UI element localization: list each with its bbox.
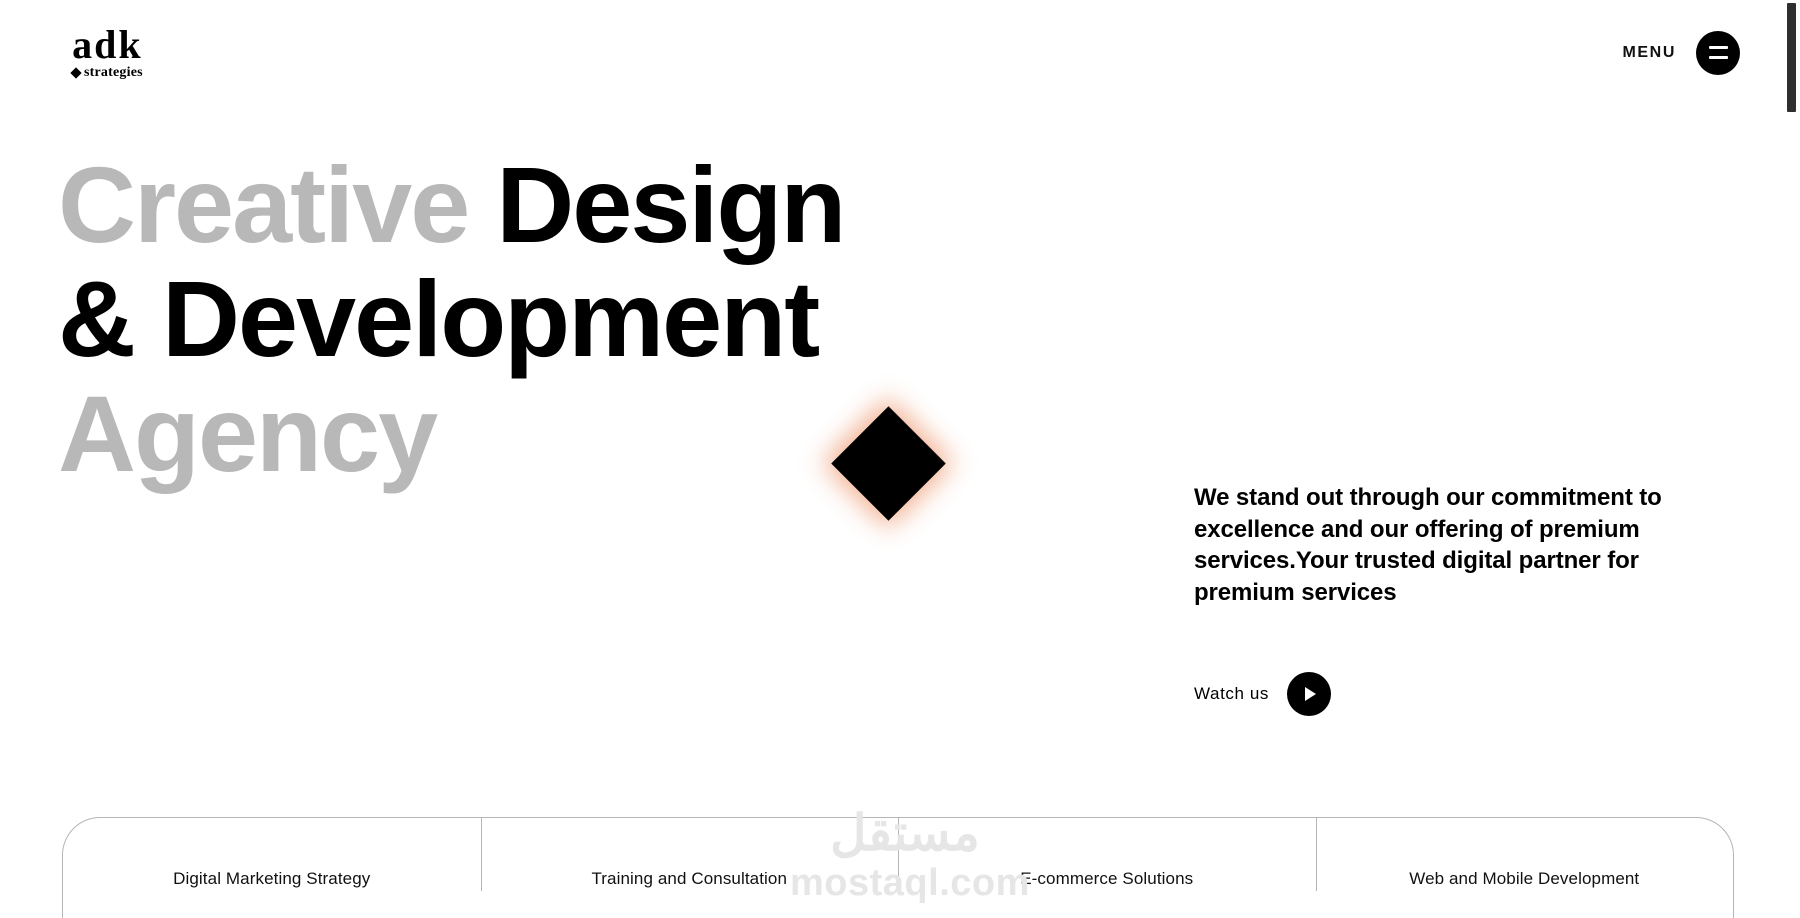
hamburger-bar-top [1709, 46, 1728, 49]
play-icon[interactable] [1287, 672, 1331, 716]
scrollbar-track[interactable] [1786, 0, 1800, 918]
headline-line-2: & Development [58, 262, 844, 376]
service-item-digital-marketing-strategy[interactable]: Digital Marketing Strategy [63, 818, 481, 918]
page-root: adk strategies MENU Creative Design & De… [0, 0, 1800, 918]
headline-word-development: & Development [58, 258, 818, 379]
headline-word-design: Design [496, 144, 844, 265]
services-bar: Digital Marketing Strategy Training and … [62, 817, 1734, 918]
service-label: Training and Consultation [591, 869, 787, 889]
watch-us-button[interactable]: Watch us [1194, 672, 1331, 716]
menu-group: MENU [1622, 31, 1740, 75]
diamond-decoration [828, 403, 948, 523]
hero-copy: We stand out through our commitment to e… [1194, 482, 1694, 609]
diamond-icon [70, 67, 81, 78]
headline-line-1: Creative Design [58, 148, 844, 262]
headline-line-3: Agency [58, 377, 844, 491]
service-label: E-commerce Solutions [1020, 869, 1193, 889]
headline-word-creative: Creative [58, 144, 468, 265]
service-label: Web and Mobile Development [1409, 869, 1639, 889]
service-label: Digital Marketing Strategy [173, 869, 370, 889]
play-triangle [1305, 687, 1316, 701]
headline-word-agency: Agency [58, 373, 436, 494]
logo-tagline: strategies [72, 66, 143, 80]
logo-tagline-text: strategies [84, 66, 143, 80]
logo-wordmark: adk [72, 25, 143, 65]
hamburger-bar-bottom [1709, 56, 1728, 59]
menu-label[interactable]: MENU [1622, 44, 1676, 62]
hero-paragraph: We stand out through our commitment to e… [1194, 482, 1694, 609]
service-item-ecommerce-solutions[interactable]: E-commerce Solutions [898, 818, 1316, 918]
site-header: adk strategies MENU [0, 0, 1800, 105]
logo[interactable]: adk strategies [72, 25, 143, 80]
scrollbar-thumb[interactable] [1787, 3, 1796, 112]
service-item-training-and-consultation[interactable]: Training and Consultation [481, 818, 899, 918]
diamond-shape-icon [831, 406, 946, 521]
hamburger-icon[interactable] [1696, 31, 1740, 75]
service-item-web-and-mobile-development[interactable]: Web and Mobile Development [1316, 818, 1734, 918]
hero-headline: Creative Design & Development Agency [58, 148, 844, 491]
watch-us-label: Watch us [1194, 684, 1269, 704]
